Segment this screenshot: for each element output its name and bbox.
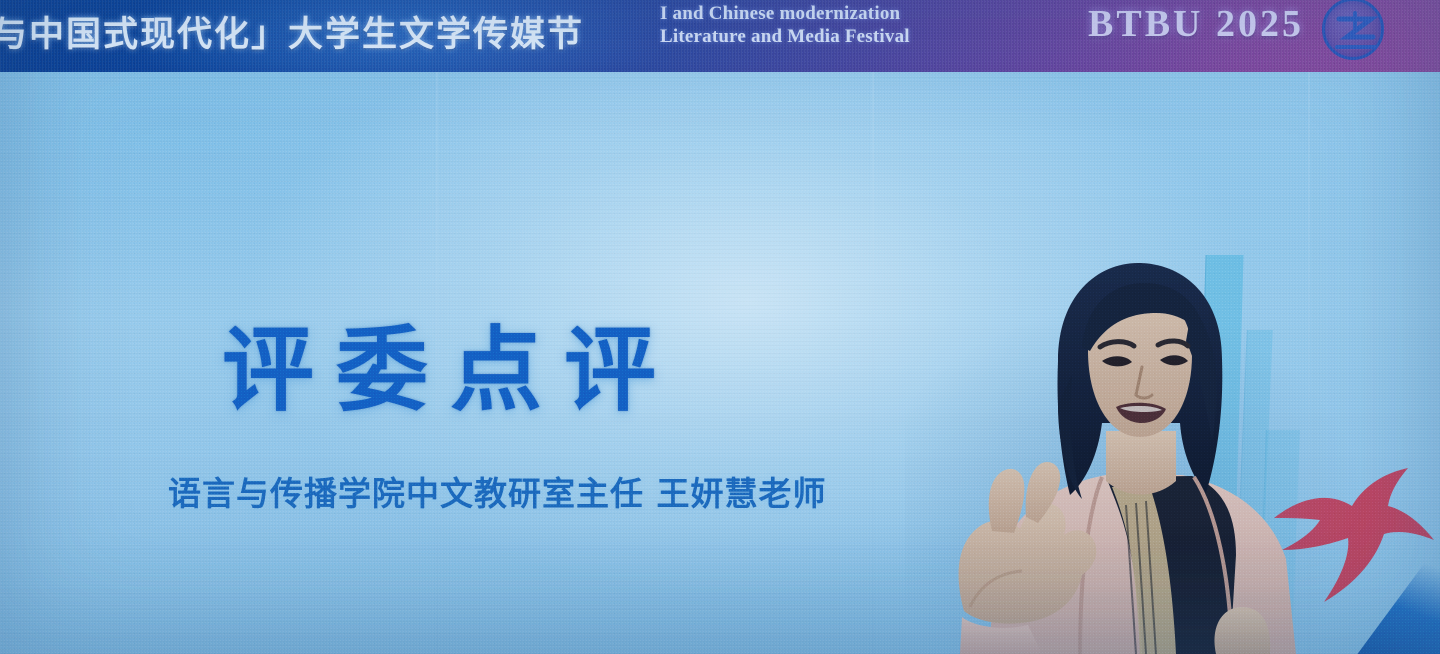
photo-grain bbox=[0, 0, 1440, 654]
stage-screen-photo: 评委点评 语言与传播学院中文教研室主任 王妍慧老师 bbox=[0, 0, 1440, 654]
